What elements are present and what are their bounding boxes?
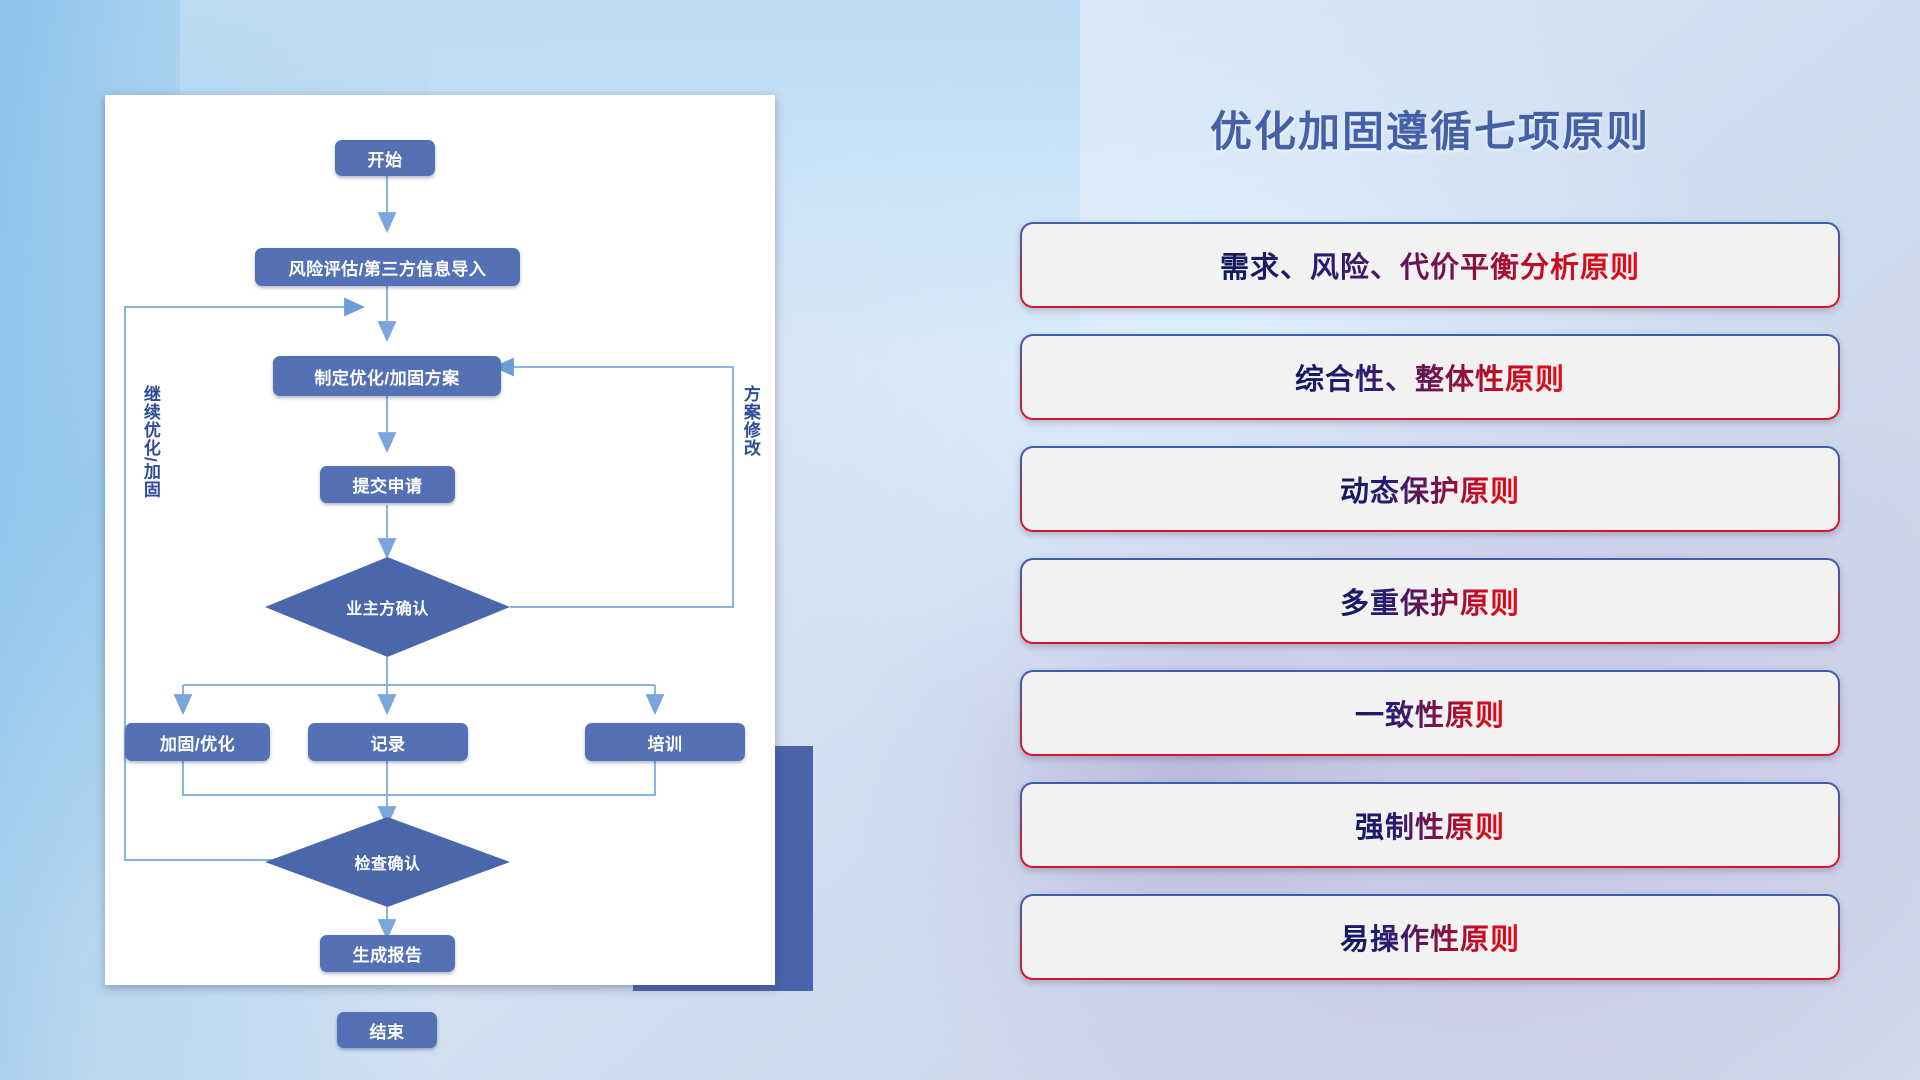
flow-decision-check-confirm-label: 检查确认 <box>354 850 420 874</box>
principle-card-4[interactable]: 多重保护原则 <box>1020 558 1840 644</box>
flow-node-training[interactable]: 培训 <box>585 723 745 761</box>
principle-card-7[interactable]: 易操作性原则 <box>1020 894 1840 980</box>
principle-label-4: 多重保护原则 <box>1340 580 1520 622</box>
principle-card-5[interactable]: 一致性原则 <box>1020 670 1840 756</box>
flow-decision-owner-confirm-label: 业主方确认 <box>346 595 429 619</box>
principles-panel: 优化加固遵循七项原则 需求、风险、代价平衡分析原则 综合性、整体性原则 动态保护… <box>1020 80 1840 1020</box>
flow-edge-label-continue-optimize: 继续优化/加固 <box>141 385 159 499</box>
flow-node-training-label: 培训 <box>648 730 683 755</box>
principle-label-7: 易操作性原则 <box>1340 916 1520 958</box>
principle-label-1: 需求、风险、代价平衡分析原则 <box>1220 244 1640 286</box>
flow-node-reinforce[interactable]: 加固/优化 <box>125 723 270 761</box>
flow-node-submit-label: 提交申请 <box>353 472 423 497</box>
principle-label-5: 一致性原则 <box>1355 692 1505 734</box>
principle-card-inner: 一致性原则 <box>1022 672 1838 754</box>
principle-label-6: 强制性原则 <box>1355 804 1505 846</box>
flow-node-report[interactable]: 生成报告 <box>320 935 455 972</box>
principle-card-inner: 易操作性原则 <box>1022 896 1838 978</box>
flow-node-submit[interactable]: 提交申请 <box>320 466 455 503</box>
flow-node-start-label: 开始 <box>368 146 403 171</box>
principle-card-inner: 综合性、整体性原则 <box>1022 336 1838 418</box>
page-title: 优化加固遵循七项原则 <box>1020 98 1840 159</box>
flow-node-risk-assessment-label: 风险评估/第三方信息导入 <box>289 255 487 280</box>
flow-node-start[interactable]: 开始 <box>335 140 435 176</box>
flow-node-report-label: 生成报告 <box>353 941 423 966</box>
principle-card-inner: 强制性原则 <box>1022 784 1838 866</box>
flow-node-reinforce-label: 加固/优化 <box>160 730 235 755</box>
flow-node-plan[interactable]: 制定优化/加固方案 <box>273 356 501 396</box>
principle-card-3[interactable]: 动态保护原则 <box>1020 446 1840 532</box>
flow-decision-owner-confirm[interactable]: 业主方确认 <box>265 557 510 657</box>
principle-card-inner: 动态保护原则 <box>1022 448 1838 530</box>
principle-label-2: 综合性、整体性原则 <box>1295 356 1565 398</box>
flow-edge-label-plan-revision: 方案修改 <box>741 385 759 457</box>
flow-node-record-label: 记录 <box>371 730 406 755</box>
flow-node-plan-label: 制定优化/加固方案 <box>314 364 459 389</box>
principle-card-inner: 多重保护原则 <box>1022 560 1838 642</box>
flow-decision-check-confirm[interactable]: 检查确认 <box>265 817 510 907</box>
principle-list: 需求、风险、代价平衡分析原则 综合性、整体性原则 动态保护原则 多重保护原则 一… <box>1020 222 1840 1006</box>
flow-node-end-label: 结束 <box>370 1018 405 1043</box>
principle-card-1[interactable]: 需求、风险、代价平衡分析原则 <box>1020 222 1840 308</box>
flowchart-canvas: 开始 风险评估/第三方信息导入 制定优化/加固方案 提交申请 业主方确认 加固/… <box>105 95 775 985</box>
flow-node-record[interactable]: 记录 <box>308 723 468 761</box>
principle-card-6[interactable]: 强制性原则 <box>1020 782 1840 868</box>
flow-node-end[interactable]: 结束 <box>337 1012 437 1048</box>
flow-node-risk-assessment[interactable]: 风险评估/第三方信息导入 <box>255 248 520 286</box>
principle-label-3: 动态保护原则 <box>1340 468 1520 510</box>
flowchart-card: 开始 风险评估/第三方信息导入 制定优化/加固方案 提交申请 业主方确认 加固/… <box>105 95 775 985</box>
principle-card-inner: 需求、风险、代价平衡分析原则 <box>1022 224 1838 306</box>
principle-card-2[interactable]: 综合性、整体性原则 <box>1020 334 1840 420</box>
